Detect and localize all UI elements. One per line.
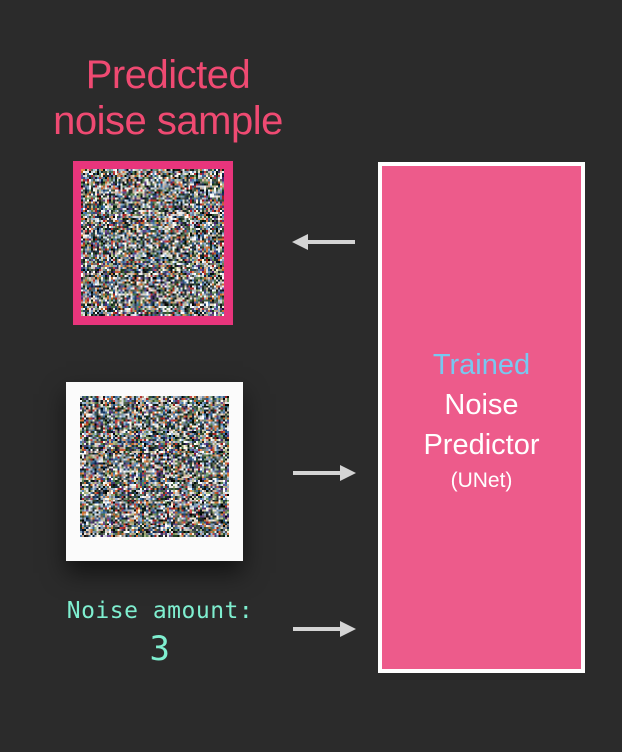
noise-amount-label: Noise amount:	[67, 598, 254, 624]
predicted-noise-sample-frame	[73, 161, 233, 325]
noise-amount-block: Noise amount: 3	[40, 596, 280, 670]
unet-trained-label: Trained	[382, 345, 581, 385]
image-input-arrow-right	[291, 458, 357, 488]
diagram-canvas: Predicted noise sample Noise amount: 3	[0, 0, 622, 752]
amount-input-arrow-right	[291, 614, 357, 644]
unet-noise-label: Noise	[382, 385, 581, 425]
output-arrow-left	[291, 227, 357, 257]
page-title: Predicted noise sample	[18, 52, 318, 144]
noise-amount-value: 3	[40, 628, 280, 670]
unet-model-box: Trained Noise Predictor (UNet)	[378, 162, 585, 673]
input-noise-sample-image	[80, 396, 229, 537]
unet-subtitle: (UNet)	[382, 465, 581, 497]
input-noise-sample-frame	[66, 382, 243, 561]
unet-predictor-label: Predictor	[382, 425, 581, 465]
predicted-noise-sample-image	[81, 169, 224, 316]
